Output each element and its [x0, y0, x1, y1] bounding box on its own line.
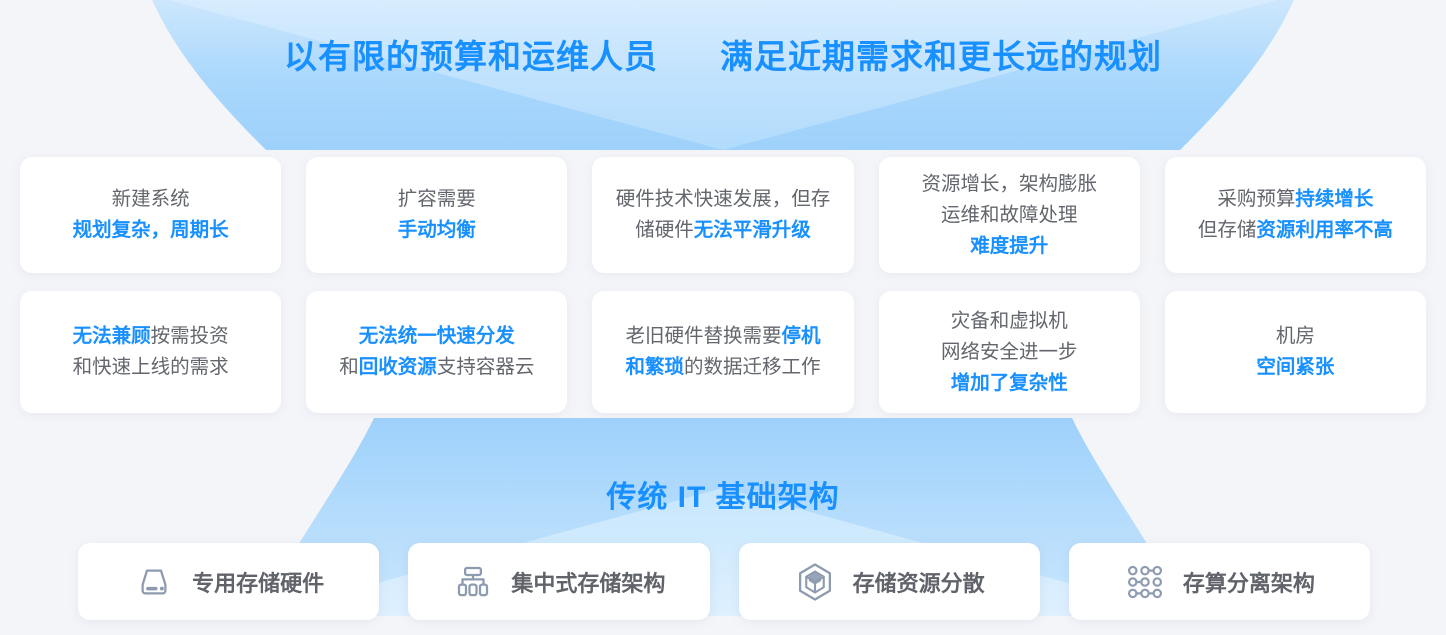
storage-array-icon — [133, 561, 175, 603]
feature-label: 专用存储硬件 — [192, 566, 324, 598]
emphasis-text: 资源利用率不高 — [1256, 219, 1393, 241]
plain-text: 资源增长，架构膨胀 — [921, 173, 1097, 195]
feature-label: 存储资源分散 — [853, 566, 985, 598]
plain-text: 硬件技术快速发展，但存 — [616, 188, 831, 210]
card-text: 硬件技术快速发展，但存储硬件无法平滑升级 — [616, 184, 831, 246]
plain-text: 支持容器云 — [437, 356, 535, 378]
card-text: 灾备和虚拟机网络安全进一步增加了复杂性 — [941, 306, 1078, 399]
emphasis-text: 无法统一快速分发 — [359, 325, 515, 347]
plain-text: 新建系统 — [112, 188, 190, 210]
plain-text: 灾备和虚拟机 — [951, 310, 1068, 332]
emphasis-text: 停机 — [782, 325, 821, 347]
card-datacenter-space: 机房空间紧张 — [1165, 291, 1426, 413]
card-scale-out: 扩容需要手动均衡 — [306, 157, 567, 273]
headline-right: 满足近期需求和更长远的规划 — [720, 38, 1162, 75]
card-text: 机房空间紧张 — [1256, 321, 1334, 383]
plain-text: 的数据迁移工作 — [684, 356, 821, 378]
card-text: 新建系统规划复杂，周期长 — [73, 184, 229, 246]
feature-card-storage-array[interactable]: 专用存储硬件 — [78, 543, 379, 620]
card-resource-growth: 资源增长，架构膨胀运维和故障处理难度提升 — [879, 157, 1140, 273]
bottom-title: 传统 IT 基础架构 — [0, 472, 1446, 516]
feature-row: 专用存储硬件集中式存储架构存储资源分散存算分离架构 — [78, 543, 1370, 620]
card-hardware-upgrade: 硬件技术快速发展，但存储硬件无法平滑升级 — [592, 157, 853, 273]
hex-cube-icon — [794, 561, 836, 603]
card-dr-security: 灾备和虚拟机网络安全进一步增加了复杂性 — [879, 291, 1140, 413]
card-text: 采购预算持续增长但存储资源利用率不高 — [1198, 184, 1393, 246]
emphasis-text: 手动均衡 — [398, 219, 476, 241]
plain-text: 和快速上线的需求 — [73, 356, 229, 378]
node-grid-icon — [1124, 561, 1166, 603]
emphasis-text: 无法平滑升级 — [694, 219, 811, 241]
card-text: 扩容需要手动均衡 — [398, 184, 476, 246]
card-text: 无法兼顾按需投资和快速上线的需求 — [73, 321, 229, 383]
plain-text: 按需投资 — [151, 325, 229, 347]
emphasis-text: 持续增长 — [1295, 188, 1373, 210]
card-unified-delivery: 无法统一快速分发和回收资源支持容器云 — [306, 291, 567, 413]
problem-row-1: 新建系统规划复杂，周期长扩容需要手动均衡硬件技术快速发展，但存储硬件无法平滑升级… — [20, 157, 1426, 273]
emphasis-text: 空间紧张 — [1256, 356, 1334, 378]
top-headline: 以有限的预算和运维人员满足近期需求和更长远的规划 — [0, 30, 1446, 78]
emphasis-text: 增加了复杂性 — [951, 372, 1068, 394]
plain-text: 采购预算 — [1217, 188, 1295, 210]
card-legacy-migration: 老旧硬件替换需要停机和繁琐的数据迁移工作 — [592, 291, 853, 413]
plain-text: 运维和故障处理 — [941, 204, 1078, 226]
card-budget-growth: 采购预算持续增长但存储资源利用率不高 — [1165, 157, 1426, 273]
feature-label: 存算分离架构 — [1183, 566, 1315, 598]
hierarchy-icon — [452, 561, 494, 603]
card-text: 老旧硬件替换需要停机和繁琐的数据迁移工作 — [625, 321, 820, 383]
headline-left: 以有限的预算和运维人员 — [284, 38, 658, 75]
plain-text: 但存储 — [1198, 219, 1257, 241]
feature-card-hex-cube[interactable]: 存储资源分散 — [739, 543, 1040, 620]
problem-row-2: 无法兼顾按需投资和快速上线的需求无法统一快速分发和回收资源支持容器云老旧硬件替换… — [20, 291, 1426, 413]
emphasis-text: 规划复杂，周期长 — [73, 219, 229, 241]
card-text: 无法统一快速分发和回收资源支持容器云 — [339, 321, 534, 383]
plain-text: 扩容需要 — [398, 188, 476, 210]
card-text: 资源增长，架构膨胀运维和故障处理难度提升 — [921, 169, 1097, 262]
feature-card-hierarchy[interactable]: 集中式存储架构 — [408, 543, 709, 620]
plain-text: 老旧硬件替换需要 — [625, 325, 781, 347]
feature-card-node-grid[interactable]: 存算分离架构 — [1069, 543, 1370, 620]
card-new-system: 新建系统规划复杂，周期长 — [20, 157, 281, 273]
feature-label: 集中式存储架构 — [511, 566, 665, 598]
plain-text: 网络安全进一步 — [941, 341, 1078, 363]
emphasis-text: 难度提升 — [970, 235, 1048, 257]
plain-text: 机房 — [1276, 325, 1315, 347]
plain-text: 储硬件 — [635, 219, 694, 241]
emphasis-text: 回收资源 — [359, 356, 437, 378]
emphasis-text: 和繁琐 — [625, 356, 684, 378]
plain-text: 和 — [339, 356, 359, 378]
emphasis-text: 无法兼顾 — [73, 325, 151, 347]
infographic-root: 以有限的预算和运维人员满足近期需求和更长远的规划 新建系统规划复杂，周期长扩容需… — [0, 0, 1446, 635]
card-on-demand-invest: 无法兼顾按需投资和快速上线的需求 — [20, 291, 281, 413]
